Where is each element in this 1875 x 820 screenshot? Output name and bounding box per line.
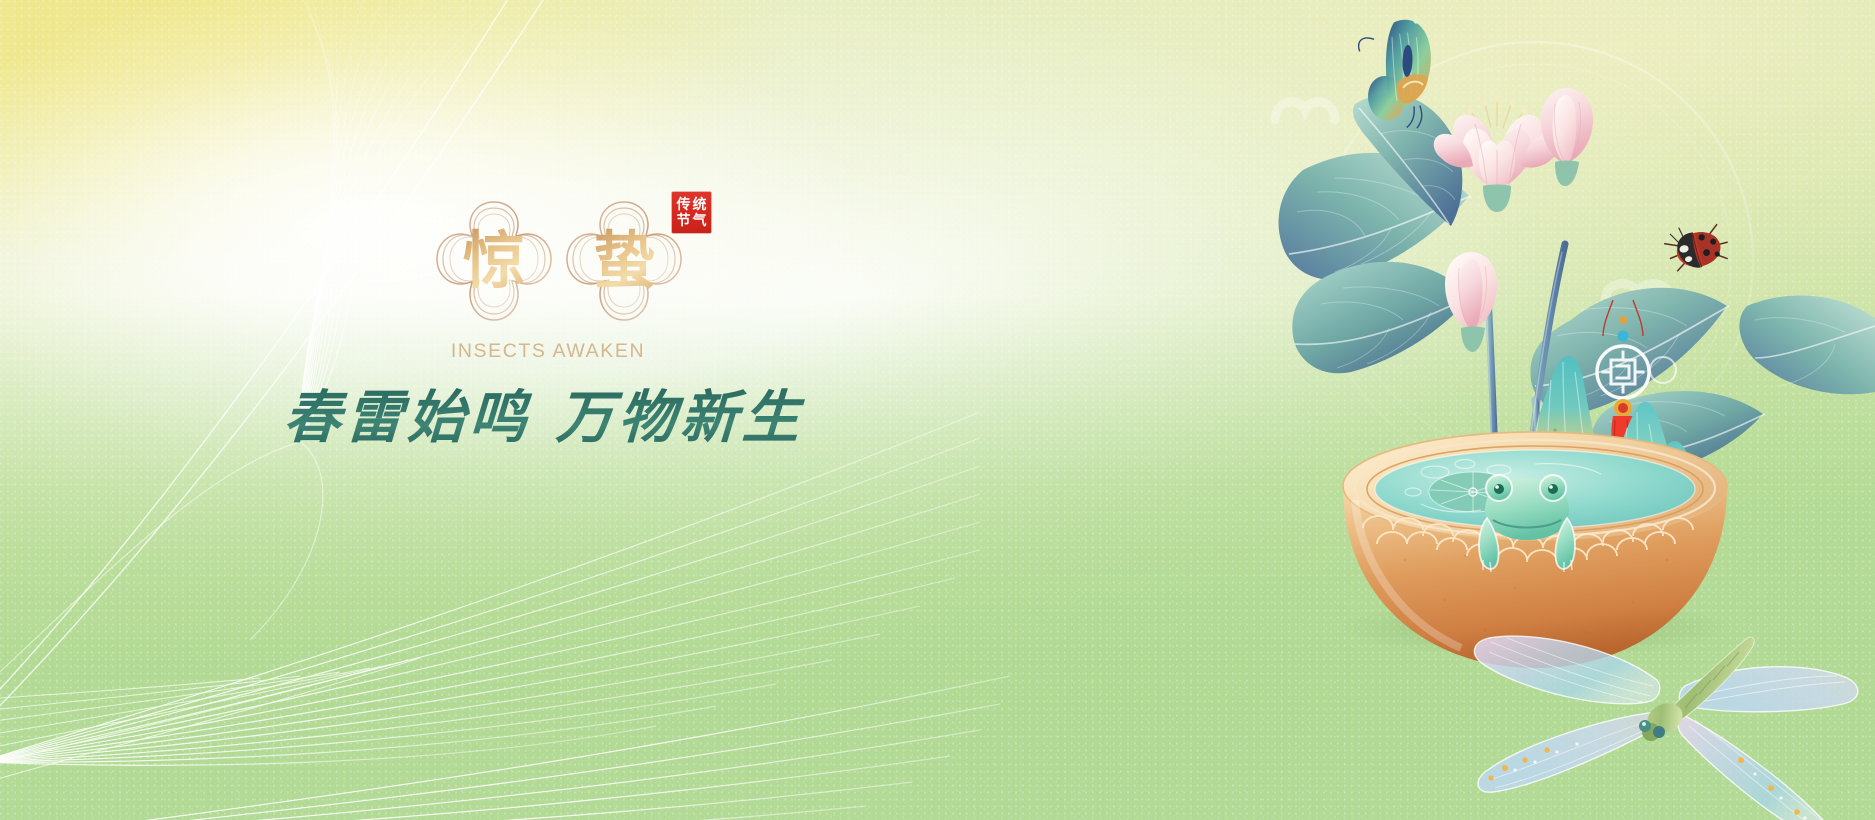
title-glyph-row: 惊 蛰 传 统 节 气 (268, 196, 908, 328)
subtitle-english: INSECTS AWAKEN (268, 340, 828, 363)
title-block: 惊 蛰 传 统 节 气 (268, 196, 908, 476)
tagline-chinese: 春雷始鸣 万物新生 (242, 388, 845, 448)
seal-char: 气 (692, 213, 708, 229)
title-glyph-jing: 惊 (428, 196, 560, 328)
seal-char: 统 (692, 197, 708, 213)
seal-characters: 传 统 节 气 (676, 197, 708, 229)
jingzhe-banner: 惊 蛰 传 统 节 气 (0, 0, 1875, 820)
traditional-solar-term-seal: 传 统 节 气 (672, 192, 711, 233)
seal-char: 传 (676, 197, 692, 213)
title-glyph-char: 蛰 (558, 196, 690, 328)
title-glyph-char: 惊 (428, 196, 560, 328)
title-glyph-zhe: 蛰 (558, 196, 690, 328)
seal-char: 节 (676, 213, 692, 229)
